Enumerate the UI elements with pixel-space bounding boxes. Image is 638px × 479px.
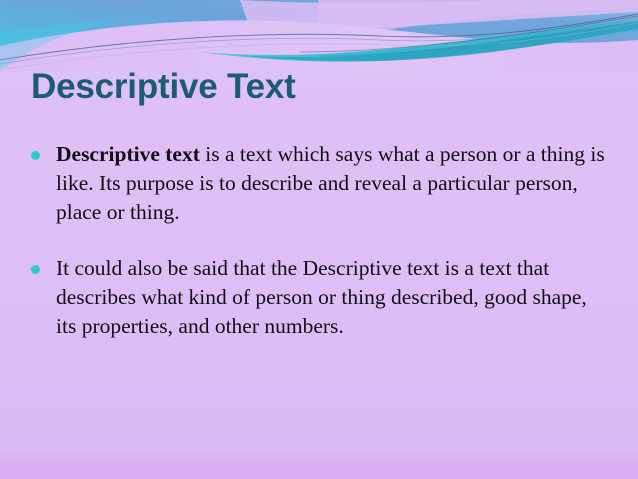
bullet-lead-text: Descriptive text: [56, 142, 200, 166]
list-item: It could also be said that the Descripti…: [31, 254, 611, 341]
presentation-slide: Descriptive Text Descriptive text is a t…: [0, 0, 638, 479]
page-title: Descriptive Text: [31, 67, 296, 107]
bullet-text: It could also be said that the Descripti…: [56, 254, 611, 341]
bullet-dot-icon: [31, 265, 40, 274]
list-item: Descriptive text is a text which says wh…: [31, 140, 611, 227]
slide-body: Descriptive text is a text which says wh…: [31, 140, 611, 368]
bullet-dot-icon: [31, 151, 40, 160]
bullet-text: Descriptive text is a text which says wh…: [56, 140, 611, 227]
decorative-wave-banner: [0, 0, 638, 72]
bullet-body-text: It could also be said that the Descripti…: [56, 256, 587, 338]
